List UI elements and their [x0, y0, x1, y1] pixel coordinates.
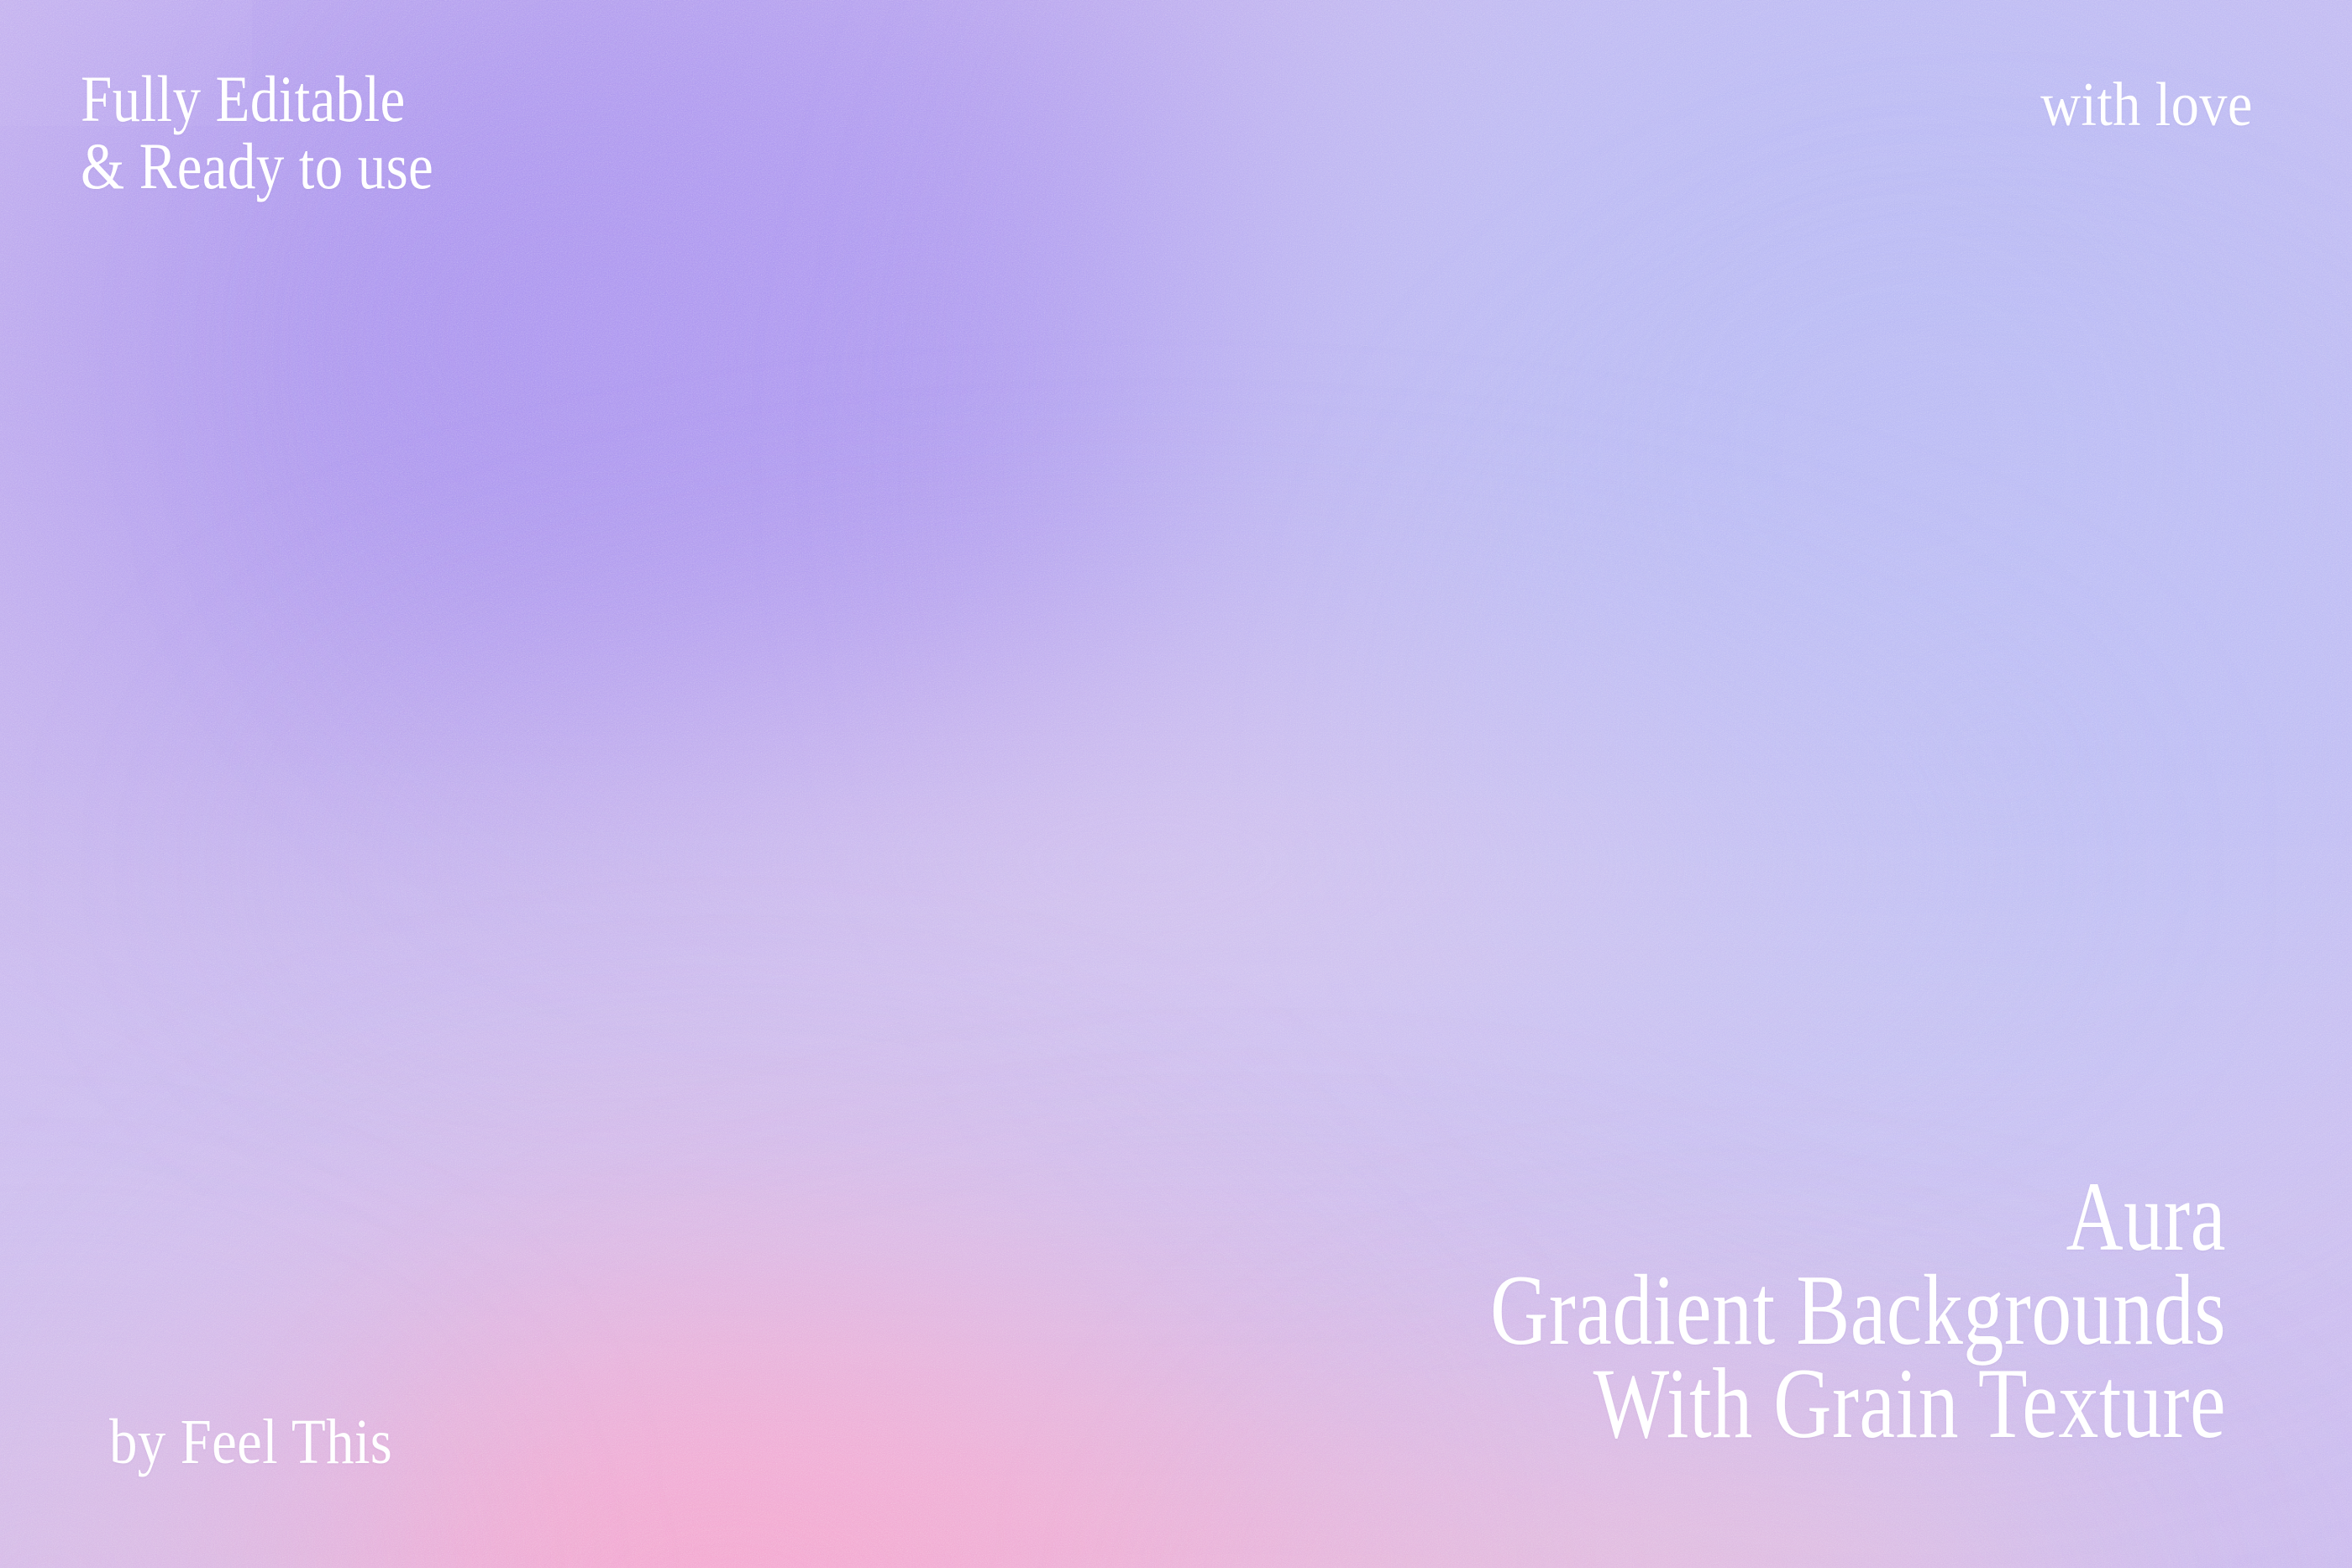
top-left-line-2: & Ready to use [81, 133, 433, 200]
headline-line-3: With Grain Texture [1490, 1356, 2226, 1450]
top-left-line-1: Fully Editable [81, 66, 433, 133]
gradient-blob-lilac-bridge [188, 595, 2117, 1129]
top-left-caption: Fully Editable & Ready to use [81, 66, 491, 199]
top-right-line-1: with love [2040, 74, 2253, 136]
headline-line-2: Gradient Backgrounds [1490, 1263, 2226, 1357]
poster-canvas: Fully Editable & Ready to use with love … [0, 0, 2352, 1568]
bottom-left-line-1: by Feel This [109, 1410, 392, 1474]
headline-line-1: Aura [1490, 1171, 2226, 1263]
bottom-right-headline: Aura Gradient Backgrounds With Grain Tex… [1306, 1171, 2226, 1450]
top-right-caption: with love [2017, 74, 2253, 136]
bottom-left-credit: by Feel This [109, 1410, 431, 1474]
